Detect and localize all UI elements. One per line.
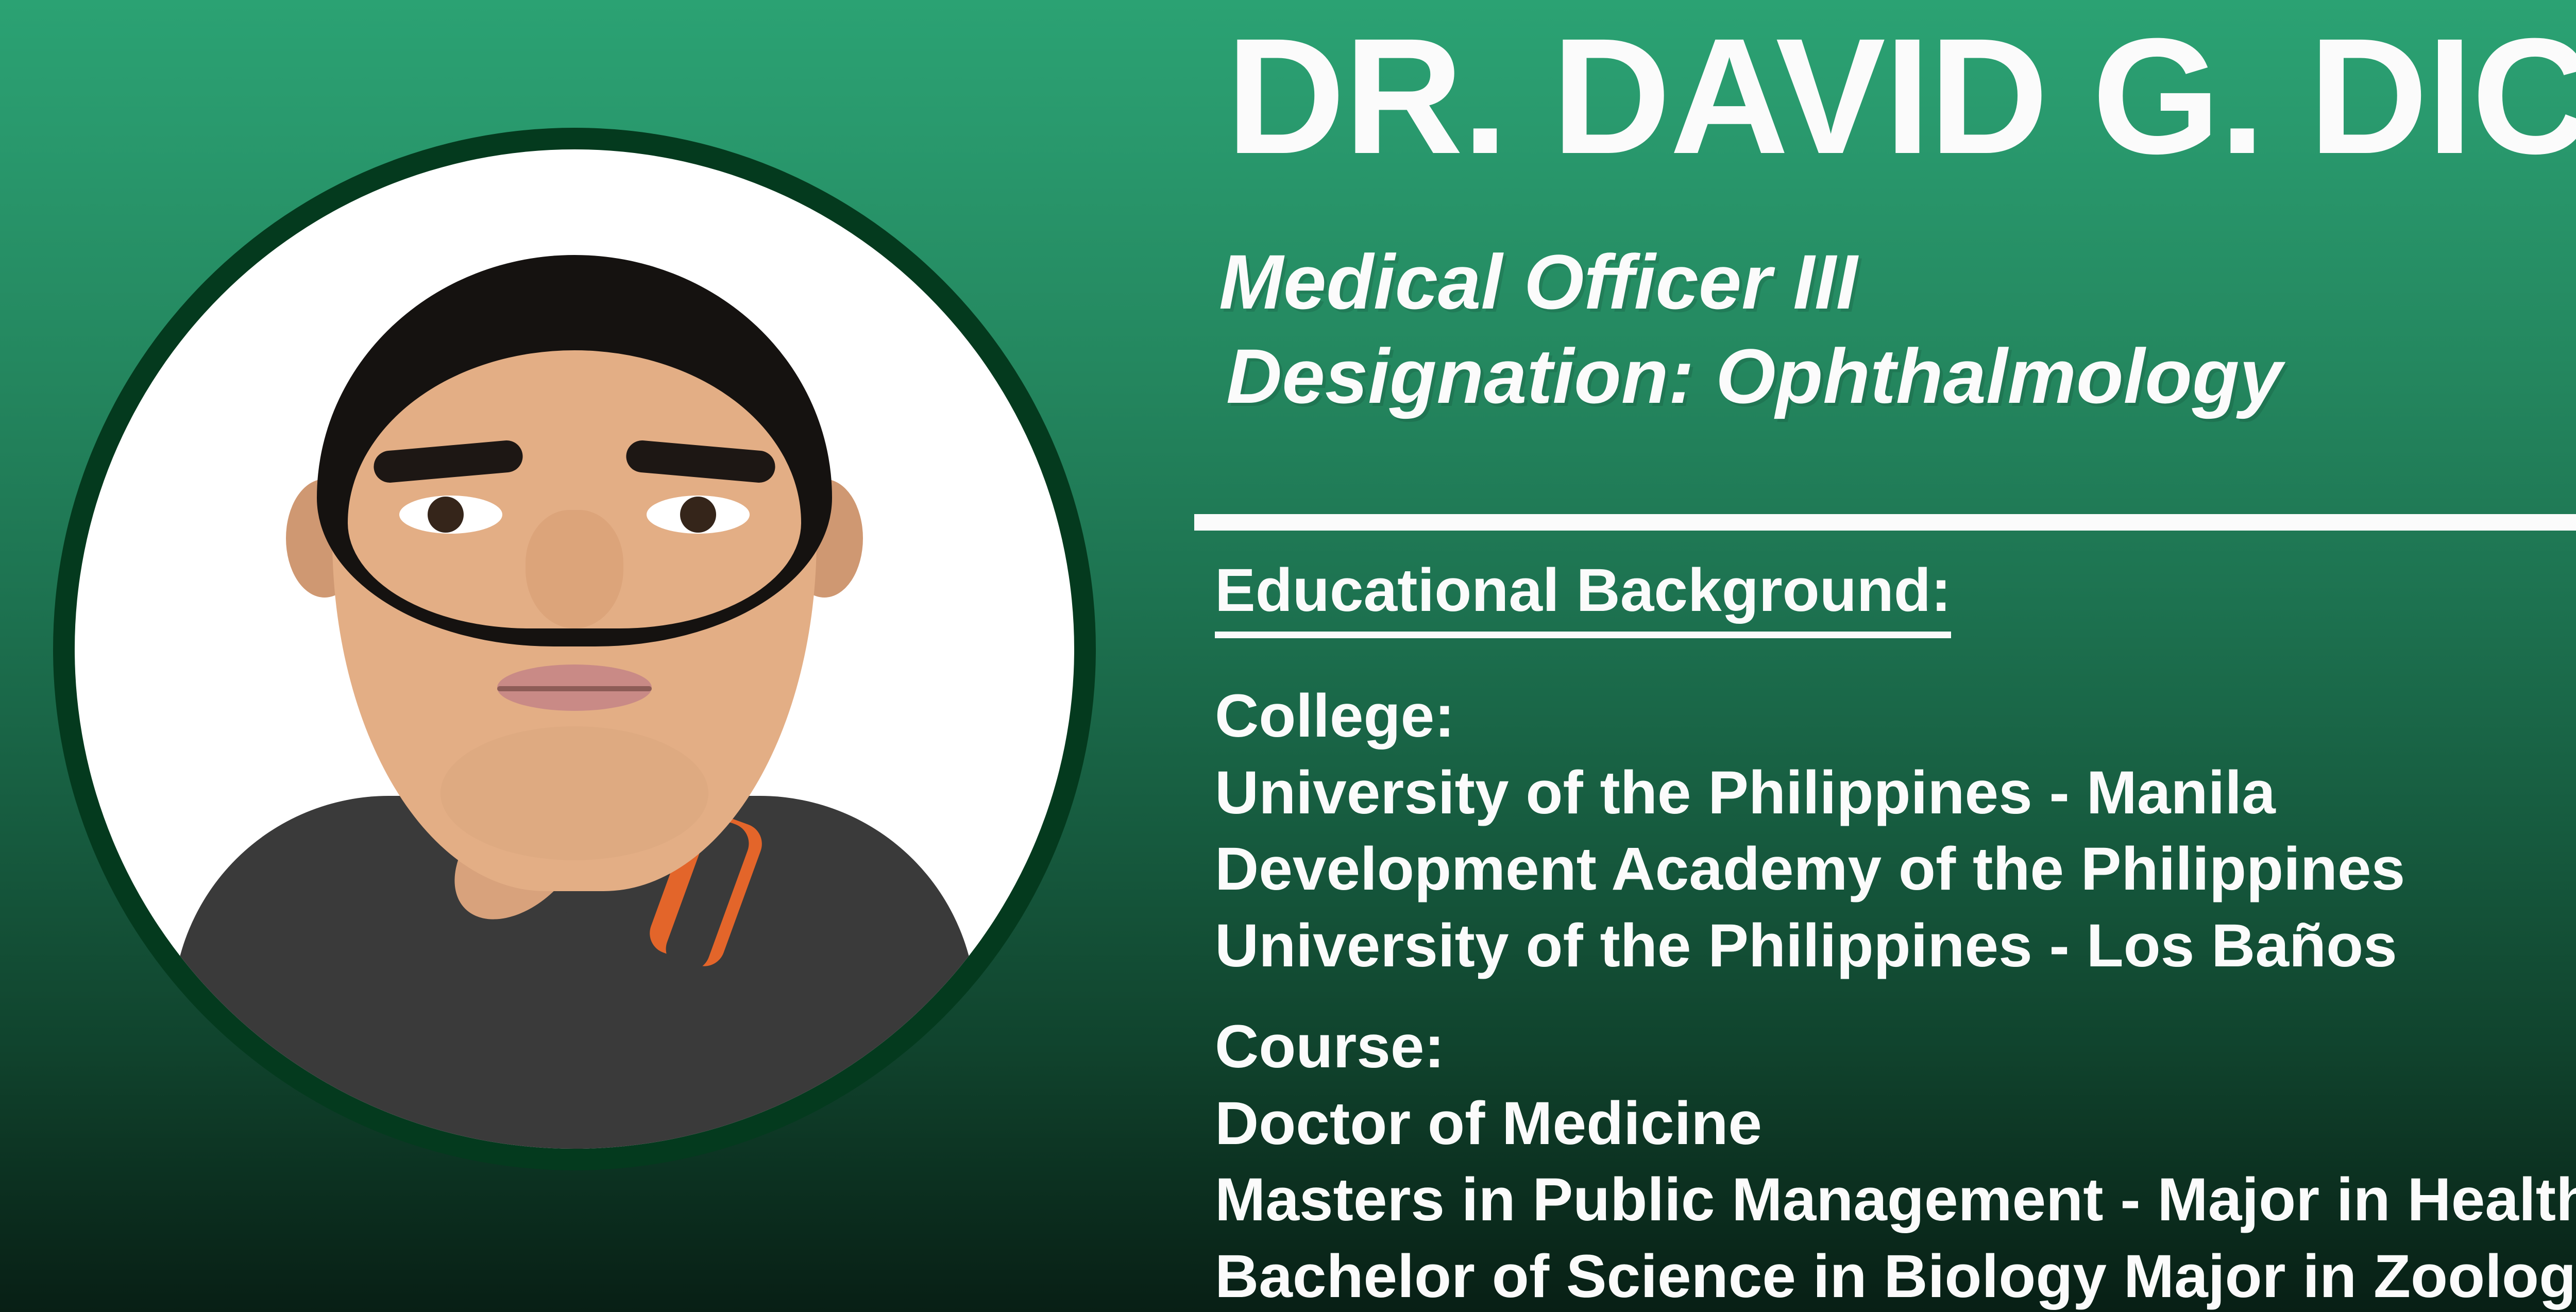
avatar (53, 128, 1096, 1170)
course-item: Doctor of Medicine (1215, 1085, 2576, 1162)
college-item: Development Academy of the Philippines (1215, 831, 2405, 908)
header-divider (1194, 514, 2576, 531)
profile-banner: DR. DAVID G. DICIANO, JR. Medical Office… (0, 0, 2576, 1312)
portrait-pupil-left (428, 497, 464, 533)
course-item: Masters in Public Management - Major in … (1215, 1162, 2576, 1238)
profile-position: Medical Officer III (1219, 235, 2282, 329)
profile-designation: Designation: Ophthalmology (1219, 329, 2282, 423)
portrait-chin (440, 726, 708, 860)
college-item: University of the Philippines - Manila (1215, 755, 2405, 831)
education-section-college: College: University of the Philippines -… (1215, 678, 2405, 984)
portrait-lip-line (497, 686, 652, 691)
profile-subtitle: Medical Officer III Designation: Ophthal… (1219, 235, 2282, 423)
education-heading-label: Educational Background: (1215, 556, 1951, 638)
portrait-pupil-right (680, 497, 716, 533)
portrait-photo (75, 149, 1074, 1149)
education-section-course: Course: Doctor of Medicine Masters in Pu… (1215, 1009, 2576, 1312)
college-label: College: (1215, 678, 2405, 755)
page-title: DR. DAVID G. DICIANO, JR. (1226, 18, 2576, 174)
course-label: Course: (1215, 1009, 2576, 1085)
course-item: Bachelor of Science in Biology Major in … (1215, 1238, 2576, 1312)
portrait-nose (526, 510, 623, 628)
education-heading: Educational Background: (1215, 555, 1951, 625)
profile-details: DR. DAVID G. DICIANO, JR. Medical Office… (1194, 0, 2576, 1312)
college-item: University of the Philippines - Los Baño… (1215, 908, 2405, 984)
